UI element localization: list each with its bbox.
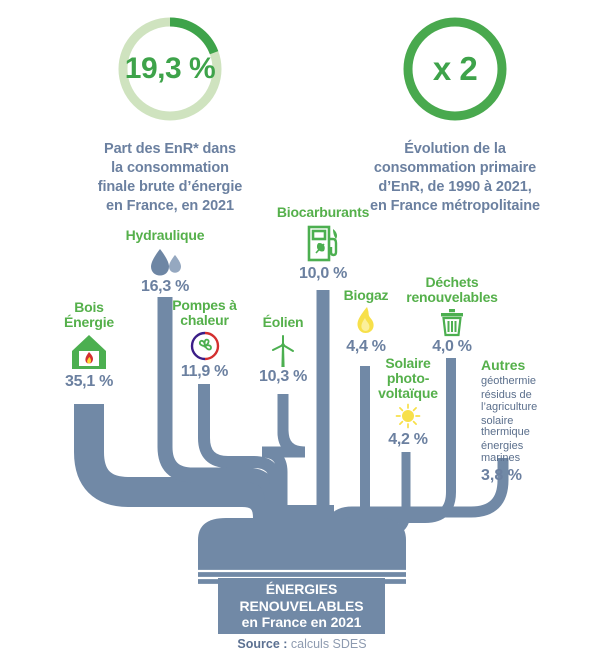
node-biogaz: Biogaz 4,4 % <box>330 288 402 356</box>
node-hydraulique: Hydraulique 16,3 % <box>100 228 230 296</box>
branch-eolien <box>262 394 305 582</box>
node-pct-value: 4,0 % <box>400 338 504 356</box>
node-pompes-a-chaleur: Pompes à chaleur 11,9 % <box>158 298 251 381</box>
trunk-left-shoulder <box>198 518 258 585</box>
autres-item: solaire thermique <box>481 416 573 439</box>
heat-pump-icon <box>158 331 251 361</box>
fuel-pump-leaf-icon <box>262 223 384 265</box>
trunk-right-shoulder <box>362 518 406 585</box>
kpi-caption-line: Évolution de la <box>320 140 590 159</box>
node-title-line: Déchets <box>400 275 504 290</box>
plaque-line-2: RENOUVELABLES <box>240 598 364 615</box>
node-pct-value: 4,4 % <box>330 338 402 356</box>
node-solaire-photovoltaique: Solaire photo- voltaïque 4,2 % <box>371 356 445 449</box>
autres-item: résidus de l’agriculture <box>481 390 573 413</box>
source-value: calculs SDES <box>287 637 366 651</box>
node-title-line: renouvelables <box>400 290 504 305</box>
plaque-line-3: en France en 2021 <box>242 614 362 631</box>
kpi-caption-line: d’EnR, de 1990 à 2021, <box>320 178 590 197</box>
trash-bin-icon <box>400 308 504 338</box>
flame-icon <box>330 305 402 339</box>
kpi-caption-line: la consommation <box>30 159 310 178</box>
source-note: Source : calculs SDES <box>0 637 604 651</box>
source-label: Source : <box>237 637 287 651</box>
circle-value-label: x 2 <box>400 14 510 124</box>
branch-bois-energie <box>89 404 268 582</box>
branch-autres <box>330 458 503 534</box>
wind-turbine-icon <box>243 331 323 369</box>
kpi-caption-line: Part des EnR* dans <box>30 140 310 159</box>
donut-value-label: 19,3 % <box>115 14 225 124</box>
trunk-base <box>258 520 362 585</box>
branch-biogaz <box>333 366 365 537</box>
node-title-line: Bois <box>39 300 139 315</box>
plaque-energies-renouvelables: ÉNERGIES RENOUVELABLES en France en 2021 <box>218 578 385 634</box>
house-flame-icon <box>39 332 139 372</box>
plaque-line-1: ÉNERGIES <box>266 581 338 598</box>
kpi-caption-line: finale brute d’énergie <box>30 178 310 197</box>
node-title-line: Biogaz <box>330 288 402 303</box>
sun-icon <box>371 402 445 430</box>
circle-chart-enr-growth: x 2 <box>400 14 510 124</box>
node-pct-value: 35,1 % <box>39 373 139 391</box>
node-title-line: Énergie <box>39 315 139 330</box>
node-title-line: Biocarburants <box>262 205 384 220</box>
node-biocarburants: Biocarburants 10,0 % <box>262 205 384 283</box>
branch-pompes-chaleur <box>204 384 276 582</box>
node-pct-value: 10,0 % <box>262 265 384 283</box>
autres-title: Autres <box>481 358 573 373</box>
node-title-line: Éolien <box>243 315 323 330</box>
node-title-line: voltaïque <box>371 386 445 401</box>
trunk-core <box>286 505 334 585</box>
node-pct-value: 4,2 % <box>371 431 445 449</box>
node-title-line: Solaire <box>371 356 445 371</box>
node-pct-value: 11,9 % <box>158 363 251 381</box>
autres-pct-value: 3,8 % <box>481 467 573 484</box>
node-pct-value: 16,3 % <box>100 278 230 296</box>
autres-items: géothermie résidus de l’agriculture sola… <box>481 376 573 464</box>
donut-chart-enr-share: 19,3 % <box>115 14 225 124</box>
autres-item: énergies marines <box>481 441 573 464</box>
node-dechets-renouvelables: Déchets renouvelables 4,0 % <box>400 275 504 356</box>
branch-eolien-join <box>283 394 303 452</box>
node-eolien: Éolien 10,3 % <box>243 315 323 386</box>
kpi-enr-share: 19,3 % Part des EnR* dans la consommatio… <box>30 14 310 216</box>
branch-solaire-pv <box>335 452 406 532</box>
water-drops-icon <box>100 246 230 278</box>
node-title-line: Pompes à <box>158 298 251 313</box>
node-bois-energie: Bois Énergie 35,1 % <box>39 300 139 391</box>
kpi-caption-line: consommation primaire <box>320 159 590 178</box>
infographic-root: 19,3 % Part des EnR* dans la consommatio… <box>0 0 604 657</box>
node-autres: Autres géothermie résidus de l’agricultu… <box>481 358 573 484</box>
node-title-line: chaleur <box>158 313 251 328</box>
autres-item: géothermie <box>481 376 573 388</box>
node-pct-value: 10,3 % <box>243 368 323 386</box>
kpi-enr-growth: x 2 Évolution de la consommation primair… <box>320 14 590 216</box>
node-title-line: Hydraulique <box>100 228 230 243</box>
node-title-line: photo- <box>371 371 445 386</box>
